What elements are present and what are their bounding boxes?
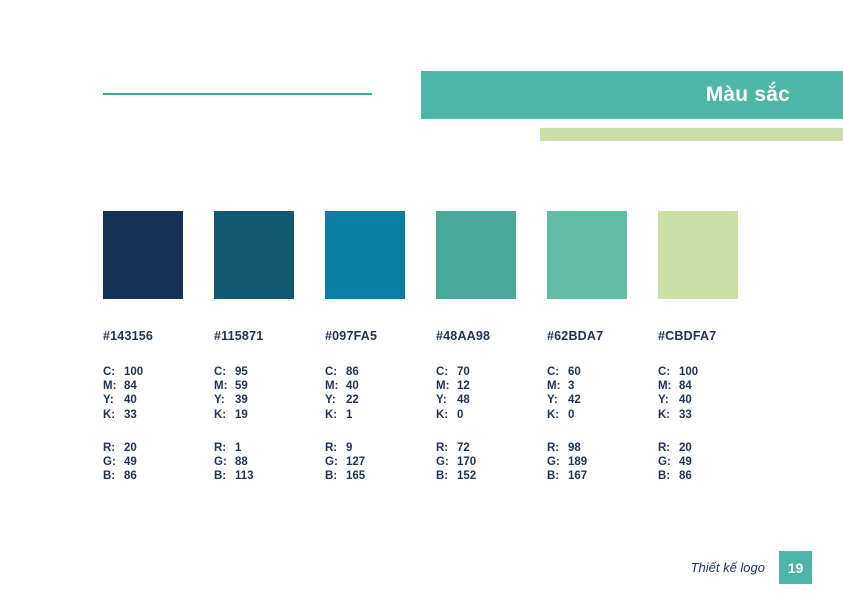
value-number: 40 (346, 379, 405, 393)
value-number: 86 (346, 365, 405, 379)
value-number: 19 (235, 408, 294, 422)
cmyk-values: C:60M:3Y:42K:0 (547, 365, 627, 422)
swatch-column: #62BDA7C:60M:3Y:42K:0R:98G:189B:167 (547, 211, 627, 483)
value-row: Y:40 (658, 393, 738, 407)
value-key: M: (325, 379, 346, 393)
value-number: 42 (568, 393, 627, 407)
swatch-hex-label: #097FA5 (325, 329, 405, 343)
header-bar: Màu sắc (421, 71, 843, 119)
value-key: R: (103, 441, 124, 455)
rgb-values: R:20G:49B:86 (658, 441, 738, 484)
value-number: 86 (679, 469, 738, 483)
value-number: 0 (568, 408, 627, 422)
value-number: 40 (679, 393, 738, 407)
value-number: 189 (568, 455, 627, 469)
value-key: Y: (214, 393, 235, 407)
color-swatch (325, 211, 405, 299)
value-row: B:86 (103, 469, 183, 483)
value-row: B:86 (658, 469, 738, 483)
value-number: 100 (124, 365, 183, 379)
value-row: R:1 (214, 441, 294, 455)
value-row: B:165 (325, 469, 405, 483)
value-number: 1 (235, 441, 294, 455)
swatch-hex-label: #CBDFA7 (658, 329, 738, 343)
value-key: G: (103, 455, 124, 469)
value-number: 22 (346, 393, 405, 407)
value-key: R: (436, 441, 457, 455)
value-row: Y:22 (325, 393, 405, 407)
value-row: C:70 (436, 365, 516, 379)
value-number: 88 (235, 455, 294, 469)
swatch-column: #115871C:95M:59Y:39K:19R:1G:88B:113 (214, 211, 294, 483)
value-row: M:59 (214, 379, 294, 393)
value-key: Y: (436, 393, 457, 407)
value-row: Y:40 (103, 393, 183, 407)
value-number: 100 (679, 365, 738, 379)
value-key: G: (658, 455, 679, 469)
value-key: M: (214, 379, 235, 393)
value-row: B:152 (436, 469, 516, 483)
slide-canvas: Màu sắc #143156C:100M:84Y:40K:33R:20G:49… (0, 0, 843, 596)
color-swatch (103, 211, 183, 299)
swatch-column: #48AA98C:70M:12Y:48K:0R:72G:170B:152 (436, 211, 516, 483)
value-key: M: (436, 379, 457, 393)
value-number: 48 (457, 393, 516, 407)
cmyk-values: C:86M:40Y:22K:1 (325, 365, 405, 422)
value-key: M: (658, 379, 679, 393)
page-title: Màu sắc (706, 83, 843, 107)
value-key: K: (325, 408, 346, 422)
swatch-hex-label: #62BDA7 (547, 329, 627, 343)
value-number: 170 (457, 455, 516, 469)
value-key: C: (214, 365, 235, 379)
page-number-badge: 19 (779, 551, 812, 584)
value-row: C:95 (214, 365, 294, 379)
value-row: K:33 (103, 408, 183, 422)
swatch-hex-label: #115871 (214, 329, 294, 343)
value-number: 12 (457, 379, 516, 393)
value-key: B: (325, 469, 346, 483)
value-number: 20 (124, 441, 183, 455)
header-accent-bar (540, 128, 843, 141)
value-key: B: (547, 469, 568, 483)
value-key: R: (214, 441, 235, 455)
color-palette: #143156C:100M:84Y:40K:33R:20G:49B:86#115… (103, 211, 803, 483)
value-key: Y: (547, 393, 568, 407)
value-row: G:88 (214, 455, 294, 469)
value-number: 3 (568, 379, 627, 393)
rgb-values: R:98G:189B:167 (547, 441, 627, 484)
value-row: K:19 (214, 408, 294, 422)
value-key: B: (103, 469, 124, 483)
value-number: 1 (346, 408, 405, 422)
rgb-values: R:20G:49B:86 (103, 441, 183, 484)
value-number: 39 (235, 393, 294, 407)
cmyk-values: C:95M:59Y:39K:19 (214, 365, 294, 422)
rgb-values: R:9G:127B:165 (325, 441, 405, 484)
value-number: 59 (235, 379, 294, 393)
value-row: K:0 (547, 408, 627, 422)
value-row: B:113 (214, 469, 294, 483)
swatch-hex-label: #48AA98 (436, 329, 516, 343)
value-key: R: (658, 441, 679, 455)
value-key: G: (547, 455, 568, 469)
value-row: G:189 (547, 455, 627, 469)
value-key: K: (547, 408, 568, 422)
value-number: 167 (568, 469, 627, 483)
color-swatch (547, 211, 627, 299)
value-key: C: (436, 365, 457, 379)
value-number: 152 (457, 469, 516, 483)
value-key: Y: (658, 393, 679, 407)
value-key: B: (436, 469, 457, 483)
color-swatch (658, 211, 738, 299)
footer-label: Thiết kế logo (691, 560, 765, 575)
value-row: R:20 (658, 441, 738, 455)
value-number: 20 (679, 441, 738, 455)
value-number: 98 (568, 441, 627, 455)
value-row: M:84 (103, 379, 183, 393)
value-number: 165 (346, 469, 405, 483)
header-decorative-rule (103, 93, 372, 95)
cmyk-values: C:70M:12Y:48K:0 (436, 365, 516, 422)
value-key: R: (547, 441, 568, 455)
value-key: Y: (325, 393, 346, 407)
value-key: C: (547, 365, 568, 379)
value-row: Y:42 (547, 393, 627, 407)
swatch-column: #CBDFA7C:100M:84Y:40K:33R:20G:49B:86 (658, 211, 738, 483)
value-row: G:49 (103, 455, 183, 469)
rgb-values: R:72G:170B:152 (436, 441, 516, 484)
cmyk-values: C:100M:84Y:40K:33 (103, 365, 183, 422)
value-key: Y: (103, 393, 124, 407)
value-number: 86 (124, 469, 183, 483)
cmyk-values: C:100M:84Y:40K:33 (658, 365, 738, 422)
value-row: Y:48 (436, 393, 516, 407)
value-row: M:3 (547, 379, 627, 393)
rgb-values: R:1G:88B:113 (214, 441, 294, 484)
value-number: 60 (568, 365, 627, 379)
value-row: C:100 (658, 365, 738, 379)
value-row: M:40 (325, 379, 405, 393)
value-key: C: (325, 365, 346, 379)
color-swatch (436, 211, 516, 299)
value-number: 72 (457, 441, 516, 455)
value-key: C: (658, 365, 679, 379)
value-key: K: (436, 408, 457, 422)
value-row: R:98 (547, 441, 627, 455)
color-swatch (214, 211, 294, 299)
value-key: M: (547, 379, 568, 393)
value-row: C:86 (325, 365, 405, 379)
value-key: K: (103, 408, 124, 422)
value-key: G: (436, 455, 457, 469)
value-number: 70 (457, 365, 516, 379)
value-number: 84 (679, 379, 738, 393)
value-row: C:100 (103, 365, 183, 379)
value-number: 9 (346, 441, 405, 455)
value-key: C: (103, 365, 124, 379)
value-key: R: (325, 441, 346, 455)
swatch-column: #097FA5C:86M:40Y:22K:1R:9G:127B:165 (325, 211, 405, 483)
value-number: 49 (679, 455, 738, 469)
value-row: K:1 (325, 408, 405, 422)
value-row: M:12 (436, 379, 516, 393)
value-row: Y:39 (214, 393, 294, 407)
value-key: G: (325, 455, 346, 469)
value-key: K: (214, 408, 235, 422)
value-row: M:84 (658, 379, 738, 393)
value-key: K: (658, 408, 679, 422)
swatch-column: #143156C:100M:84Y:40K:33R:20G:49B:86 (103, 211, 183, 483)
value-key: B: (214, 469, 235, 483)
value-number: 0 (457, 408, 516, 422)
value-row: G:170 (436, 455, 516, 469)
value-row: R:9 (325, 441, 405, 455)
value-number: 84 (124, 379, 183, 393)
value-row: K:33 (658, 408, 738, 422)
value-row: C:60 (547, 365, 627, 379)
value-number: 95 (235, 365, 294, 379)
slide-footer: Thiết kế logo 19 (600, 551, 812, 584)
value-row: B:167 (547, 469, 627, 483)
value-number: 127 (346, 455, 405, 469)
value-row: R:20 (103, 441, 183, 455)
value-number: 113 (235, 469, 294, 483)
value-row: R:72 (436, 441, 516, 455)
value-key: G: (214, 455, 235, 469)
swatch-hex-label: #143156 (103, 329, 183, 343)
value-key: M: (103, 379, 124, 393)
value-row: G:49 (658, 455, 738, 469)
value-number: 40 (124, 393, 183, 407)
value-row: K:0 (436, 408, 516, 422)
value-row: G:127 (325, 455, 405, 469)
value-number: 33 (124, 408, 183, 422)
value-key: B: (658, 469, 679, 483)
value-number: 33 (679, 408, 738, 422)
value-number: 49 (124, 455, 183, 469)
